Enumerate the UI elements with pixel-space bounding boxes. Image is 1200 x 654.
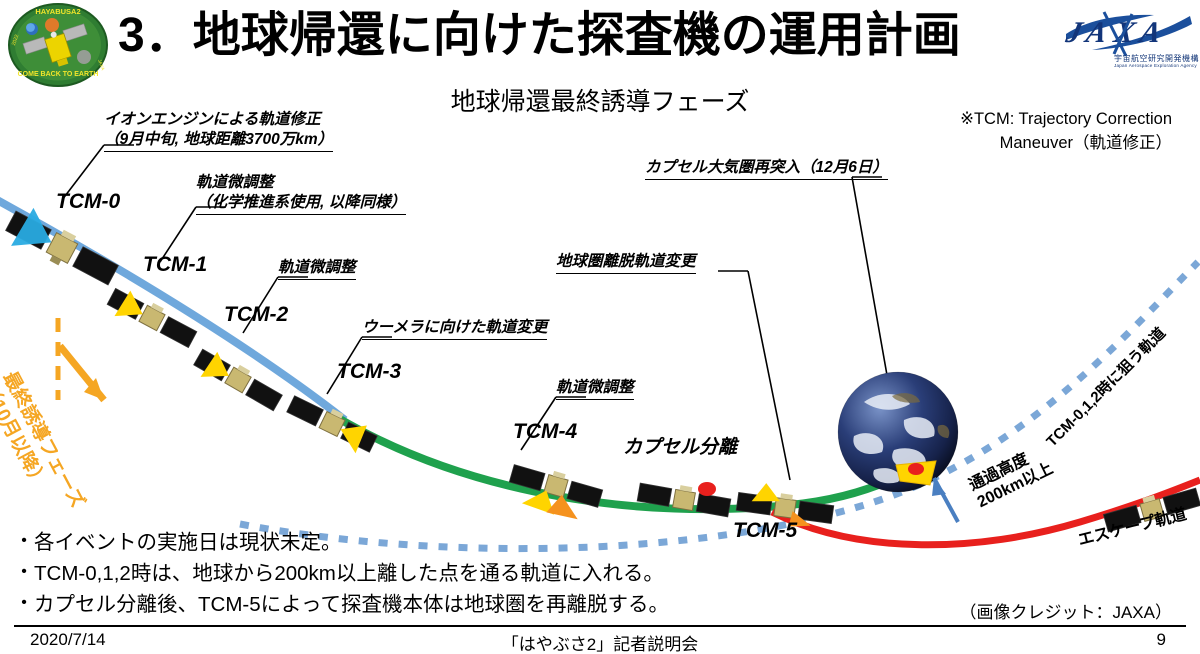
callout-escape-orbit-change: 地球圏離脱軌道変更 (556, 252, 696, 274)
spacecraft-tcm-4 (504, 460, 604, 526)
spacecraft-tcm-3 (284, 391, 380, 458)
callout-fine-tune-1: 軌道微調整 （化学推進系使用, 以降同様） (196, 173, 406, 215)
bullet-dot-icon: • (14, 590, 34, 616)
bullet-text: 各イベントの実施日は現状未定。 (34, 528, 342, 557)
callout-woomera: ウーメラに向けた軌道変更 (362, 318, 547, 340)
bullet-dot-icon: • (14, 559, 34, 585)
footer-divider (14, 625, 1186, 627)
footer-page-number: 9 (1157, 630, 1166, 650)
label-tcm-3: TCM-3 (337, 360, 401, 384)
callout-fine-tune-1-line1: 軌道微調整 (196, 173, 406, 193)
bullet-text: カプセル分離後、TCM-5によって探査機本体は地球圏を再離脱する。 (34, 590, 669, 619)
image-credit: （画像クレジット：JAXA） (959, 598, 1172, 623)
label-tcm-4: TCM-4 (513, 420, 577, 444)
pass-altitude-arrow (932, 478, 958, 522)
approach-trajectory-blue (0, 196, 345, 420)
callout-capsule-reentry: カプセル大気圏再突入（12月6日） (645, 158, 888, 180)
label-tcm-2: TCM-2 (224, 303, 288, 327)
bullet-list: • 各イベントの実施日は現状未定。 • TCM-0,1,2時は、地球から200k… (14, 528, 774, 621)
callout-fine-tune-1-line2: （化学推進系使用, 以降同様） (196, 193, 406, 215)
slide-canvas: HAYABUSA2 COME BACK TO EARTH 2022 JAXA 3… (0, 0, 1200, 654)
callout-ion-engine-line1: イオンエンジンによる軌道修正 (104, 110, 333, 130)
callout-fine-tune-2: 軌道微調整 (278, 258, 356, 280)
capsule-reentry-marker (896, 461, 936, 485)
final-guidance-phase-arrow (58, 318, 104, 400)
list-item: • 各イベントの実施日は現状未定。 (14, 528, 774, 557)
list-item: • カプセル分離後、TCM-5によって探査機本体は地球圏を再離脱する。 (14, 590, 774, 619)
callout-ion-engine-line2: （9月中旬, 地球距離3700万km） (104, 130, 333, 152)
footer-title: 「はやぶさ2」記者説明会 (0, 630, 1200, 654)
callout-ion-engine: イオンエンジンによる軌道修正 （9月中旬, 地球距離3700万km） (104, 110, 333, 152)
label-tcm-0: TCM-0 (56, 190, 120, 214)
spacecraft-tcm-1 (104, 284, 199, 354)
spacecraft-tcm-2 (190, 345, 285, 417)
label-capsule-separation: カプセル分離 (623, 432, 737, 459)
callout-fine-tune-4: 軌道微調整 (556, 378, 634, 400)
label-tcm-1: TCM-1 (143, 253, 207, 277)
bullet-dot-icon: • (14, 528, 34, 554)
spacecraft-tcm-0 (0, 201, 123, 294)
list-item: • TCM-0,1,2時は、地球から200km以上離した点を通る軌道に入れる。 (14, 559, 774, 588)
bullet-text: TCM-0,1,2時は、地球から200km以上離した点を通る軌道に入れる。 (34, 559, 664, 588)
separated-capsule-icon (698, 482, 716, 496)
